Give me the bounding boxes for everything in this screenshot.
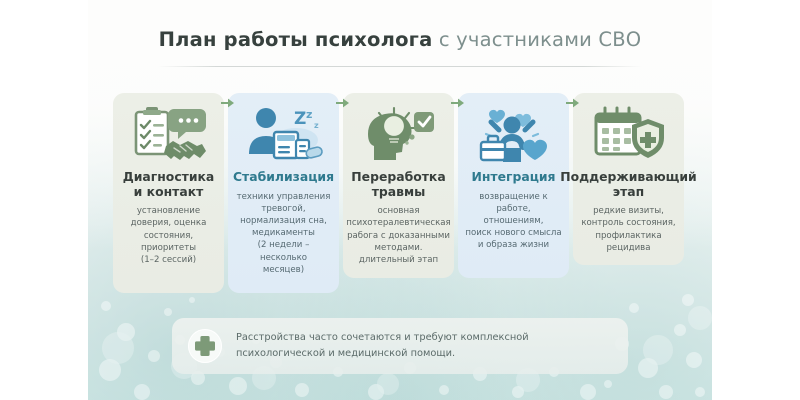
medical-cross-icon [188,329,222,363]
stage-body-5: редкие визиты,контроль состояния,профила… [580,205,676,254]
title-block: План работы психолога с участниками СВО [88,28,712,51]
stage-card-diagnostika[interactable]: Диагностикаи контакт установлениедоверия… [113,93,224,293]
stage-card-row: Диагностикаи контакт установлениедоверия… [113,93,690,293]
infographic-canvas: План работы психолога с участниками СВО [88,0,712,400]
stage-body-4: возвращение к работе,отношениям,поиск но… [462,191,565,252]
svg-text:Z: Z [294,109,306,129]
footer-note-banner: Расстройства часто сочетаются и требуют … [172,318,628,374]
svg-text:z: z [306,108,312,121]
page-title-strong: План работы психолога [159,28,433,51]
page-title: План работы психолога с участниками СВО [88,28,712,51]
stage-body-3: основнаяпсихотералевтическаярабога с док… [345,205,451,266]
stage-icon-group-1 [117,102,220,168]
stage-card-pererabotka[interactable]: Переработкатравмы основнаяпсихотералевти… [343,93,454,278]
infographic-root: План работы психолога с участниками СВО [0,0,800,400]
stage-icon-group-5 [577,102,680,168]
title-divider [158,66,642,67]
flow-arrow-1 [221,97,235,109]
stage-icon-group-2: Z z z [232,102,335,168]
footer-note-line-2: психологической и медицинской помощи. [236,346,529,362]
flow-arrow-4 [566,97,580,109]
stage-card-podderzhivayushchiy[interactable]: Поддерживающийэтап редкие визиты,контрол… [573,93,684,265]
stage-card-stabilizaciya[interactable]: Z z z [228,93,339,293]
footer-note-text: Расстройства часто сочетаются и требуют … [236,330,529,362]
stage-title-3: Переработкатравмы [349,170,447,199]
stage-icon-group-3 [347,102,450,168]
stage-title-4: Интеграция [469,170,557,185]
stage-body-1: установлениедоверия, оценкасостояния, пр… [117,205,220,266]
stage-title-1: Диагностикаи контакт [121,170,217,199]
footer-note-line-1: Расстройства часто сочетаются и требуют … [236,330,529,346]
svg-text:z: z [314,121,319,130]
page-title-light: с участниками СВО [439,28,642,51]
flow-arrow-3 [451,97,465,109]
flow-arrow-2 [336,97,350,109]
stage-body-2: техники управлениятревогой,нормализация … [232,191,335,276]
stage-card-integraciya[interactable]: Интеграция возвращение к работе,отношени… [458,93,569,278]
stage-icon-group-4 [462,102,565,168]
stage-title-5: Поддерживающийэтап [558,170,699,199]
stage-title-2: Стабилизация [231,170,336,185]
